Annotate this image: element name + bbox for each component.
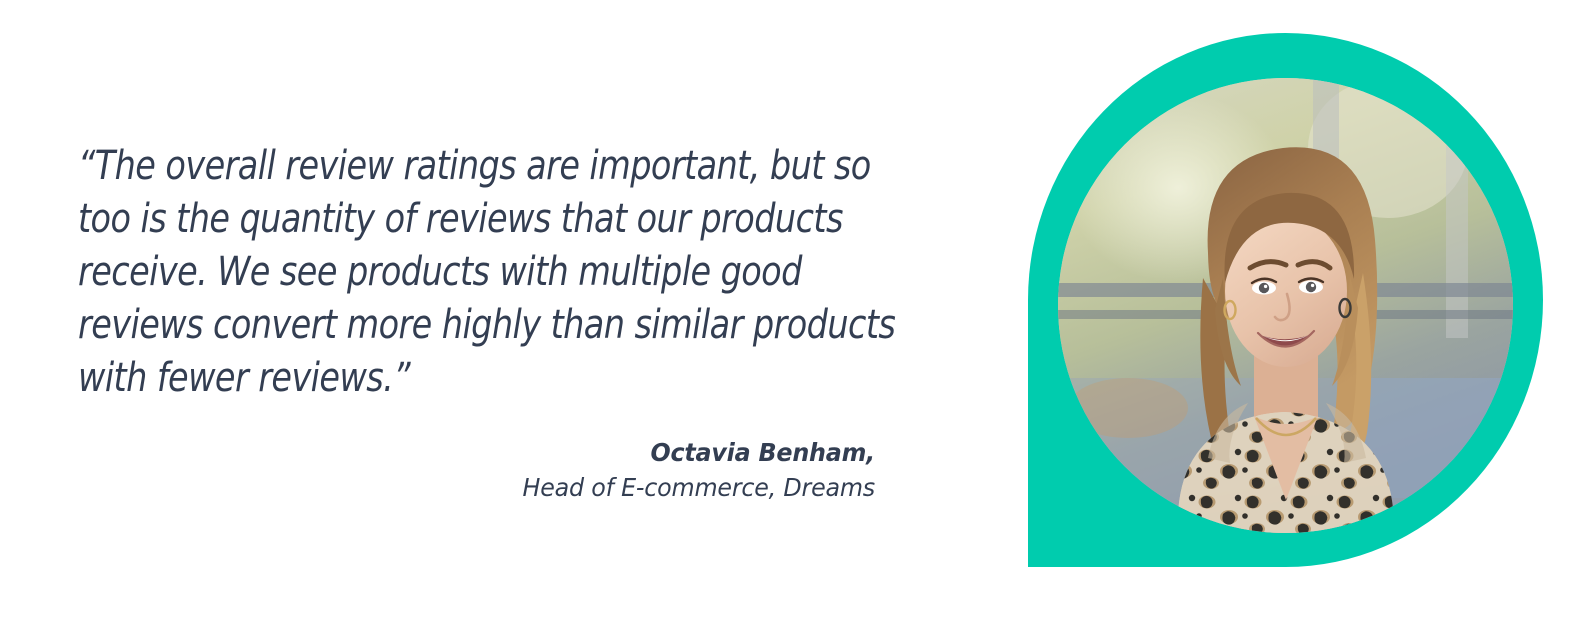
attribution-role: Head of E-commerce, Dreams	[118, 470, 875, 505]
portrait-photo	[1058, 78, 1513, 533]
portrait-circle	[1058, 78, 1513, 533]
quote-column: “The overall review ratings are importan…	[78, 140, 958, 505]
attribution: Octavia Benham, Head of E-commerce, Drea…	[118, 435, 875, 505]
attribution-name: Octavia Benham,	[118, 435, 875, 470]
portrait-container	[1028, 33, 1543, 567]
testimonial-card: “The overall review ratings are importan…	[0, 0, 1592, 622]
quote-text: “The overall review ratings are importan…	[78, 140, 896, 405]
